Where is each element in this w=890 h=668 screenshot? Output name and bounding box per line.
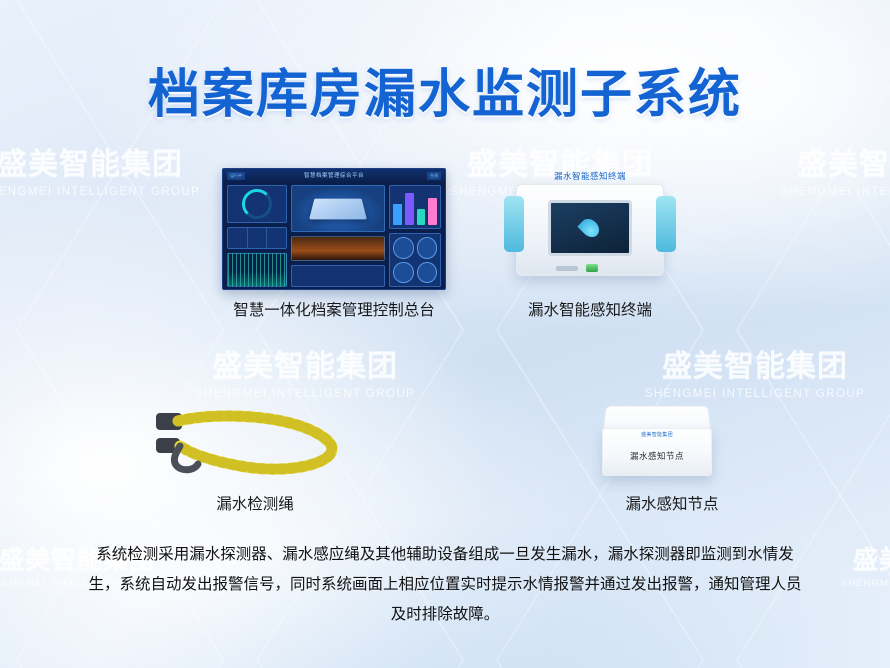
cable-illustration-icon — [150, 405, 360, 485]
water-drop-icon — [577, 215, 602, 240]
status-dot-icon — [417, 237, 438, 258]
console-center-column — [291, 185, 385, 287]
console-screen-body — [223, 181, 445, 290]
leak-detection-cable — [150, 405, 360, 485]
console-kpi-panel — [227, 227, 287, 250]
poster-page: 盛美智能集团 SHENGMEI INTELLIGENT GROUP 盛美智能集团… — [0, 0, 890, 668]
console-screenshot: 运行中 智慧档案管理综合平台 在线 — [222, 168, 446, 290]
gauge-ring-icon — [242, 189, 272, 219]
watermark: 盛美智能集团 SHENGMEI INTELLIGENT GROUP — [760, 150, 890, 199]
status-dot-icon — [393, 237, 414, 258]
console-photo-panel — [291, 236, 385, 261]
console-screen-header: 运行中 智慧档案管理综合平台 在线 — [223, 169, 445, 181]
description-text: 系统检测采用漏水探测器、漏水感应绳及其他辅助设备组成一旦发生漏水，漏水探测器即监… — [86, 540, 804, 630]
watermark: 盛美智能集团 SHENGMEI INTELLIGENT GROUP — [175, 352, 435, 401]
console-screen-title: 智慧档案管理综合平台 — [304, 171, 364, 179]
watermark-en: SHENGMEI INTELLIGENT GROUP — [760, 187, 890, 199]
watermark-en: SHENGMEI INTELLIGENT GROUP — [0, 187, 220, 199]
watermark: 盛美智能集团 SHENGMEI INTELLIGENT GROUP — [0, 150, 220, 199]
status-dot-icon — [393, 262, 414, 283]
terminal-status-led — [586, 264, 598, 272]
console-mini-panel — [291, 265, 385, 287]
watermark-cn: 盛美智能集团 — [625, 352, 885, 382]
cable-caption: 漏水检测绳 — [165, 492, 345, 514]
console-icon-grid-panel — [389, 233, 441, 287]
console-gauge-panel — [227, 185, 287, 223]
terminal-slot — [556, 266, 578, 271]
node-caption: 漏水感知节点 — [592, 492, 752, 514]
node-device-label: 漏水感知节点 — [602, 450, 712, 462]
watermark-en: SHENGMEI INTELLIGENT GROUP — [806, 579, 890, 589]
terminal-device-label: 漏水智能感知终端 — [538, 170, 642, 182]
node-brand-label: 盛美智能集团 — [602, 431, 712, 438]
leak-sensing-node: 盛美智能集团 漏水感知节点 — [596, 398, 718, 482]
console-right-column — [389, 185, 441, 287]
terminal-side-panel-right — [656, 196, 676, 252]
console-3d-view-panel — [291, 185, 385, 232]
console-waveform-panel — [227, 253, 287, 287]
watermark: 盛美智能集团 SHENGMEI INTELLIGENT GROUP — [806, 548, 890, 589]
terminal-device: 漏水智能感知终端 — [498, 170, 682, 288]
status-dot-icon — [417, 262, 438, 283]
console-caption: 智慧一体化档案管理控制总台 — [214, 298, 454, 320]
console-left-column — [227, 185, 287, 287]
page-title: 档案库房漏水监测子系统 — [0, 52, 890, 127]
console-bar-chart-panel — [389, 185, 441, 229]
watermark: 盛美智能集团 SHENGMEI INTELLIGENT GROUP — [625, 352, 885, 401]
watermark-cn: 盛美智能集团 — [760, 150, 890, 180]
node-front-face: 盛美智能集团 漏水感知节点 — [602, 428, 712, 476]
watermark-cn: 盛美智能集团 — [175, 352, 435, 382]
watermark-cn: 盛美智能集团 — [0, 150, 220, 180]
console-tag-right: 在线 — [427, 172, 441, 180]
terminal-screen — [548, 200, 632, 256]
terminal-caption: 漏水智能感知终端 — [490, 298, 690, 320]
watermark-en: SHENGMEI INTELLIGENT GROUP — [175, 389, 435, 401]
room-model-icon — [309, 199, 367, 220]
watermark-cn: 盛美智能集团 — [806, 548, 890, 573]
console-tag-left: 运行中 — [227, 172, 245, 180]
terminal-side-panel-left — [504, 196, 524, 252]
